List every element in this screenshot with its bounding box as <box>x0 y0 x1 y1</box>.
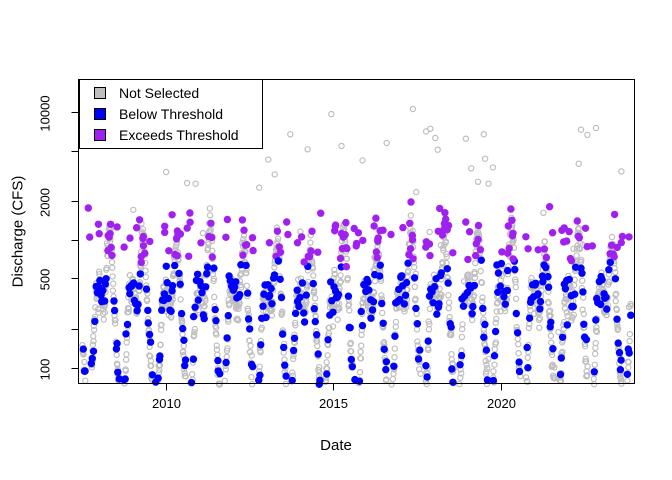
data-point-not-selected <box>372 279 377 284</box>
data-point-below-threshold <box>456 361 463 368</box>
data-point-exceeds-threshold <box>107 221 114 228</box>
data-point-below-threshold <box>188 379 195 386</box>
data-point-below-threshold <box>182 356 189 363</box>
data-point-below-threshold <box>316 377 323 384</box>
data-point-exceeds-threshold <box>197 239 204 246</box>
data-point-below-threshold <box>370 298 377 305</box>
data-point-below-threshold <box>616 349 623 356</box>
data-point-below-threshold <box>171 262 178 269</box>
data-point-exceeds-threshold <box>141 250 148 257</box>
data-point-not-selected <box>91 334 96 339</box>
data-point-below-threshold <box>536 305 543 312</box>
data-point-not-selected <box>244 283 249 288</box>
data-point-not-selected <box>449 352 454 357</box>
data-point-below-threshold <box>383 358 390 365</box>
data-point-below-threshold <box>280 344 287 351</box>
legend-swatch-exceeds-threshold <box>94 129 106 141</box>
data-point-not-selected <box>494 316 499 321</box>
data-point-exceeds-threshold <box>108 252 115 259</box>
data-point-below-threshold <box>571 291 578 298</box>
data-point-below-threshold <box>479 305 486 312</box>
data-point-exceeds-threshold <box>140 233 147 240</box>
data-point-not-selected <box>516 342 521 347</box>
data-point-below-threshold <box>195 296 202 303</box>
data-point-not-selected <box>486 181 491 186</box>
data-point-exceeds-threshold <box>146 238 153 245</box>
data-point-below-threshold <box>545 284 552 291</box>
data-point-below-threshold <box>268 300 275 307</box>
data-point-below-threshold <box>310 280 317 287</box>
data-point-below-threshold <box>471 282 478 289</box>
data-point-not-selected <box>459 334 464 339</box>
data-point-not-selected <box>266 157 271 162</box>
data-point-not-selected <box>200 231 205 236</box>
data-point-below-threshold <box>491 352 498 359</box>
data-point-not-selected <box>514 296 519 301</box>
data-point-not-selected <box>180 332 185 337</box>
data-point-not-selected <box>412 284 417 289</box>
data-point-exceeds-threshold <box>224 216 231 223</box>
data-point-below-threshold <box>425 337 432 344</box>
data-point-not-selected <box>83 378 88 383</box>
data-point-below-threshold <box>367 315 374 322</box>
data-point-exceeds-threshold <box>240 227 247 234</box>
data-point-exceeds-threshold <box>343 245 350 252</box>
data-point-below-threshold <box>277 276 284 283</box>
data-point-below-threshold <box>422 362 429 369</box>
data-point-exceeds-threshold <box>399 224 406 231</box>
data-point-not-selected <box>627 339 632 344</box>
data-point-not-selected <box>282 357 287 362</box>
data-point-exceeds-threshold <box>222 234 229 241</box>
data-point-below-threshold <box>504 287 511 294</box>
data-point-below-threshold <box>414 320 421 327</box>
data-point-below-threshold <box>433 311 440 318</box>
data-point-below-threshold <box>514 329 521 336</box>
data-point-below-threshold <box>481 321 488 328</box>
data-point-exceeds-threshold <box>95 221 102 228</box>
data-point-exceeds-threshold <box>426 252 433 259</box>
data-point-not-selected <box>190 372 195 377</box>
data-point-not-selected <box>581 295 586 300</box>
data-point-not-selected <box>408 213 413 218</box>
data-point-below-threshold <box>202 283 209 290</box>
data-point-below-threshold <box>401 300 408 307</box>
data-point-below-threshold <box>110 297 117 304</box>
data-point-below-threshold <box>191 304 198 311</box>
data-point-not-selected <box>492 347 497 352</box>
data-point-below-threshold <box>537 298 544 305</box>
data-point-exceeds-threshold <box>549 229 556 236</box>
data-point-below-threshold <box>89 355 96 362</box>
data-point-below-threshold <box>559 334 566 341</box>
data-point-below-threshold <box>624 371 631 378</box>
data-point-not-selected <box>91 339 96 344</box>
data-point-below-threshold <box>615 339 622 346</box>
data-point-not-selected <box>513 285 518 290</box>
data-point-not-selected <box>446 300 451 305</box>
data-point-exceeds-threshold <box>374 236 381 243</box>
data-point-exceeds-threshold <box>406 220 413 227</box>
data-point-exceeds-threshold <box>505 222 512 229</box>
data-point-below-threshold <box>580 321 587 328</box>
data-point-exceeds-threshold <box>314 249 321 256</box>
data-point-below-threshold <box>348 356 355 363</box>
data-point-below-threshold <box>101 297 108 304</box>
data-point-below-threshold <box>449 379 456 386</box>
data-point-exceeds-threshold <box>342 219 349 226</box>
data-point-below-threshold <box>90 348 97 355</box>
data-point-below-threshold <box>279 330 286 337</box>
data-point-exceeds-threshold <box>249 234 256 241</box>
data-point-below-threshold <box>390 363 397 370</box>
legend-label-not-selected: Not Selected <box>119 86 199 100</box>
data-point-below-threshold <box>558 354 565 361</box>
data-point-below-threshold <box>99 287 106 294</box>
data-point-below-threshold <box>212 317 219 324</box>
data-point-exceeds-threshold <box>435 228 442 235</box>
data-point-not-selected <box>481 132 486 137</box>
data-point-below-threshold <box>165 295 172 302</box>
data-point-exceeds-threshold <box>509 255 516 262</box>
data-point-below-threshold <box>180 337 187 344</box>
data-point-exceeds-threshold <box>126 234 133 241</box>
data-point-below-threshold <box>602 294 609 301</box>
data-point-below-threshold <box>627 312 634 319</box>
data-point-below-threshold <box>299 279 306 286</box>
data-point-below-threshold <box>301 318 308 325</box>
data-point-exceeds-threshold <box>504 250 511 257</box>
data-point-exceeds-threshold <box>243 241 250 248</box>
data-point-below-threshold <box>469 310 476 317</box>
data-point-below-threshold <box>377 262 384 269</box>
data-point-below-threshold <box>144 307 151 314</box>
data-point-below-threshold <box>617 366 624 373</box>
data-point-exceeds-threshold <box>474 236 481 243</box>
data-point-below-threshold <box>398 272 405 279</box>
data-point-exceeds-threshold <box>407 198 414 205</box>
data-point-below-threshold <box>268 285 275 292</box>
data-point-exceeds-threshold <box>337 255 344 262</box>
data-point-below-threshold <box>146 331 153 338</box>
data-point-below-threshold <box>549 345 556 352</box>
data-point-below-threshold <box>402 292 409 299</box>
data-point-below-threshold <box>583 336 590 343</box>
data-point-not-selected <box>207 206 212 211</box>
data-point-exceeds-threshold <box>274 228 281 235</box>
data-point-not-selected <box>446 306 451 311</box>
data-point-below-threshold <box>382 366 389 373</box>
data-point-below-threshold <box>532 280 539 287</box>
data-point-below-threshold <box>201 315 208 322</box>
data-point-below-threshold <box>591 368 598 375</box>
data-point-below-threshold <box>369 306 376 313</box>
legend-swatch-not-selected <box>94 87 106 99</box>
data-point-below-threshold <box>289 377 296 384</box>
data-point-below-threshold <box>542 264 549 271</box>
data-point-exceeds-threshold <box>140 242 147 249</box>
data-point-not-selected <box>110 265 115 270</box>
data-point-below-threshold <box>249 363 256 370</box>
data-point-below-threshold <box>480 334 487 341</box>
data-point-not-selected <box>311 273 316 278</box>
data-point-exceeds-threshold <box>541 245 548 252</box>
data-point-not-selected <box>143 275 148 280</box>
data-point-below-threshold <box>169 282 176 289</box>
data-point-below-threshold <box>179 325 186 332</box>
x-tick-label: 2010 <box>137 396 197 411</box>
data-point-below-threshold <box>122 375 129 382</box>
data-point-not-selected <box>250 382 255 387</box>
data-point-not-selected <box>529 276 534 281</box>
data-point-not-selected <box>469 166 474 171</box>
data-point-exceeds-threshold <box>509 230 516 237</box>
data-point-below-threshold <box>190 313 197 320</box>
data-point-not-selected <box>424 129 429 134</box>
data-point-below-threshold <box>547 319 554 326</box>
data-point-not-selected <box>208 213 213 218</box>
data-point-exceeds-threshold <box>475 222 482 229</box>
data-point-exceeds-threshold <box>168 211 175 218</box>
data-point-below-threshold <box>143 285 150 292</box>
data-point-below-threshold <box>216 370 223 377</box>
data-point-below-threshold <box>175 270 182 277</box>
data-point-below-threshold <box>147 338 154 345</box>
data-point-below-threshold <box>597 301 604 308</box>
data-point-not-selected <box>578 127 583 132</box>
data-point-not-selected <box>124 352 129 357</box>
data-point-exceeds-threshold <box>582 225 589 232</box>
data-point-exceeds-threshold <box>308 228 315 235</box>
data-point-not-selected <box>357 370 362 375</box>
data-point-not-selected <box>114 352 119 357</box>
data-point-not-selected <box>272 172 277 177</box>
data-point-exceeds-threshold <box>546 203 553 210</box>
data-point-below-threshold <box>478 257 485 264</box>
data-point-exceeds-threshold <box>614 244 621 251</box>
data-point-below-threshold <box>155 374 162 381</box>
data-point-not-selected <box>110 288 115 293</box>
data-point-not-selected <box>324 360 329 365</box>
data-point-exceeds-threshold <box>445 222 452 229</box>
data-point-not-selected <box>478 268 483 273</box>
data-point-below-threshold <box>403 279 410 286</box>
data-point-below-threshold <box>511 266 518 273</box>
data-point-below-threshold <box>579 288 586 295</box>
data-point-exceeds-threshold <box>524 245 531 252</box>
data-point-not-selected <box>313 296 318 301</box>
data-point-exceeds-threshold <box>442 215 449 222</box>
data-point-exceeds-threshold <box>165 247 172 254</box>
data-point-not-selected <box>609 234 614 239</box>
data-point-exceeds-threshold <box>359 237 366 244</box>
data-point-below-threshold <box>210 264 217 271</box>
data-point-not-selected <box>380 310 385 315</box>
data-point-below-threshold <box>578 270 585 277</box>
data-point-exceeds-threshold <box>619 233 626 240</box>
data-point-below-threshold <box>134 301 141 308</box>
data-point-below-threshold <box>275 257 282 264</box>
data-point-not-selected <box>427 229 432 234</box>
data-point-not-selected <box>585 132 590 137</box>
data-point-exceeds-threshold <box>136 216 143 223</box>
data-point-below-threshold <box>603 305 610 312</box>
data-point-below-threshold <box>438 269 445 276</box>
data-point-not-selected <box>305 147 310 152</box>
data-point-below-threshold <box>290 347 297 354</box>
data-point-below-threshold <box>158 307 165 314</box>
data-point-below-threshold <box>504 267 511 274</box>
data-point-below-threshold <box>498 260 505 267</box>
data-point-below-threshold <box>246 325 253 332</box>
data-point-below-threshold <box>435 300 442 307</box>
data-point-below-threshold <box>111 307 118 314</box>
data-point-exceeds-threshold <box>113 223 120 230</box>
data-point-not-selected <box>359 343 364 348</box>
data-point-below-threshold <box>415 355 422 362</box>
data-point-exceeds-threshold <box>477 246 484 253</box>
data-point-exceeds-threshold <box>185 253 192 260</box>
data-point-below-threshold <box>296 294 303 301</box>
data-point-below-threshold <box>295 303 302 310</box>
data-point-not-selected <box>485 366 490 371</box>
data-point-below-threshold <box>156 352 163 359</box>
data-point-exceeds-threshold <box>560 238 567 245</box>
data-point-below-threshold <box>544 273 551 280</box>
data-point-below-threshold <box>294 287 301 294</box>
data-point-exceeds-threshold <box>376 227 383 234</box>
data-point-below-threshold <box>412 305 419 312</box>
data-point-not-selected <box>414 190 419 195</box>
data-point-not-selected <box>338 273 343 278</box>
data-point-below-threshold <box>324 336 331 343</box>
data-point-exceeds-threshold <box>466 228 473 235</box>
data-point-below-threshold <box>598 276 605 283</box>
data-point-exceeds-threshold <box>284 231 291 238</box>
data-point-below-threshold <box>236 291 243 298</box>
x-tick-label: 2015 <box>304 396 364 411</box>
legend-label-exceeds-threshold: Exceeds Threshold <box>119 128 239 142</box>
data-point-not-selected <box>82 359 87 364</box>
data-point-below-threshold <box>312 318 319 325</box>
data-point-exceeds-threshold <box>611 211 618 218</box>
data-point-not-selected <box>626 365 631 370</box>
data-point-below-threshold <box>145 319 152 326</box>
data-point-below-threshold <box>91 318 98 325</box>
data-point-below-threshold <box>214 357 221 364</box>
data-point-below-threshold <box>448 365 455 372</box>
y-tick-label: 10000 <box>37 86 52 140</box>
data-point-exceeds-threshold <box>186 209 193 216</box>
data-point-below-threshold <box>359 322 366 329</box>
data-point-not-selected <box>257 185 262 190</box>
data-point-exceeds-threshold <box>207 220 214 227</box>
data-point-not-selected <box>389 382 394 387</box>
discharge-scatter-plot: Date Discharge (CFS) 2010201520201005002… <box>0 0 672 480</box>
data-point-exceeds-threshold <box>462 218 469 225</box>
data-point-below-threshold <box>460 303 467 310</box>
data-point-not-selected <box>537 325 542 330</box>
data-point-exceeds-threshold <box>277 249 284 256</box>
data-point-below-threshold <box>300 309 307 316</box>
data-point-exceeds-threshold <box>522 233 529 240</box>
data-point-below-threshold <box>225 312 232 319</box>
data-point-below-threshold <box>526 314 533 321</box>
data-point-not-selected <box>392 346 397 351</box>
data-point-below-threshold <box>81 367 88 374</box>
data-point-not-selected <box>613 299 618 304</box>
data-point-below-threshold <box>259 303 266 310</box>
data-point-exceeds-threshold <box>86 233 93 240</box>
data-point-below-threshold <box>133 307 140 314</box>
data-point-below-threshold <box>278 294 285 301</box>
data-point-exceeds-threshold <box>422 243 429 250</box>
data-point-below-threshold <box>534 290 541 297</box>
data-point-exceeds-threshold <box>372 215 379 222</box>
data-point-exceeds-threshold <box>266 239 273 246</box>
data-point-exceeds-threshold <box>120 243 127 250</box>
data-point-below-threshold <box>291 335 298 342</box>
data-point-not-selected <box>548 333 553 338</box>
data-point-exceeds-threshold <box>343 263 350 270</box>
data-point-exceeds-threshold <box>283 218 290 225</box>
data-point-exceeds-threshold <box>138 259 145 266</box>
y-axis-title: Discharge (CFS) <box>10 152 27 312</box>
data-point-below-threshold <box>212 306 219 313</box>
data-point-below-threshold <box>564 321 571 328</box>
legend-item-exceeds-threshold: Exceeds Threshold <box>94 124 254 145</box>
data-point-below-threshold <box>365 286 372 293</box>
data-point-below-threshold <box>448 323 455 330</box>
data-point-below-threshold <box>469 303 476 310</box>
data-point-not-selected <box>627 332 632 337</box>
data-point-not-selected <box>516 351 521 356</box>
data-point-not-selected <box>525 355 530 360</box>
data-point-below-threshold <box>245 315 252 322</box>
data-point-not-selected <box>212 294 217 299</box>
data-point-below-threshold <box>313 331 320 338</box>
data-point-exceeds-threshold <box>576 234 583 241</box>
data-point-not-selected <box>427 306 432 311</box>
data-point-below-threshold <box>347 324 354 331</box>
data-point-below-threshold <box>242 262 249 269</box>
data-point-below-threshold <box>612 275 619 282</box>
data-point-exceeds-threshold <box>249 247 256 254</box>
data-point-below-threshold <box>592 316 599 323</box>
data-point-not-selected <box>435 147 440 152</box>
data-point-not-selected <box>215 352 220 357</box>
data-point-not-selected <box>185 180 190 185</box>
data-point-exceeds-threshold <box>387 231 394 238</box>
data-point-exceeds-threshold <box>174 252 181 259</box>
data-point-not-selected <box>619 169 624 174</box>
data-point-not-selected <box>384 140 389 145</box>
data-point-below-threshold <box>126 290 133 297</box>
legend-item-not-selected: Not Selected <box>94 82 254 103</box>
data-point-exceeds-threshold <box>317 210 324 217</box>
data-point-below-threshold <box>523 344 530 351</box>
data-point-below-threshold <box>380 320 387 327</box>
data-point-below-threshold <box>345 293 352 300</box>
data-point-exceeds-threshold <box>584 243 591 250</box>
data-point-below-threshold <box>495 269 502 276</box>
data-point-below-threshold <box>483 346 490 353</box>
data-point-not-selected <box>358 349 363 354</box>
data-point-below-threshold <box>223 334 230 341</box>
data-point-not-selected <box>414 327 419 332</box>
data-point-below-threshold <box>222 359 229 366</box>
data-point-exceeds-threshold <box>436 205 443 212</box>
